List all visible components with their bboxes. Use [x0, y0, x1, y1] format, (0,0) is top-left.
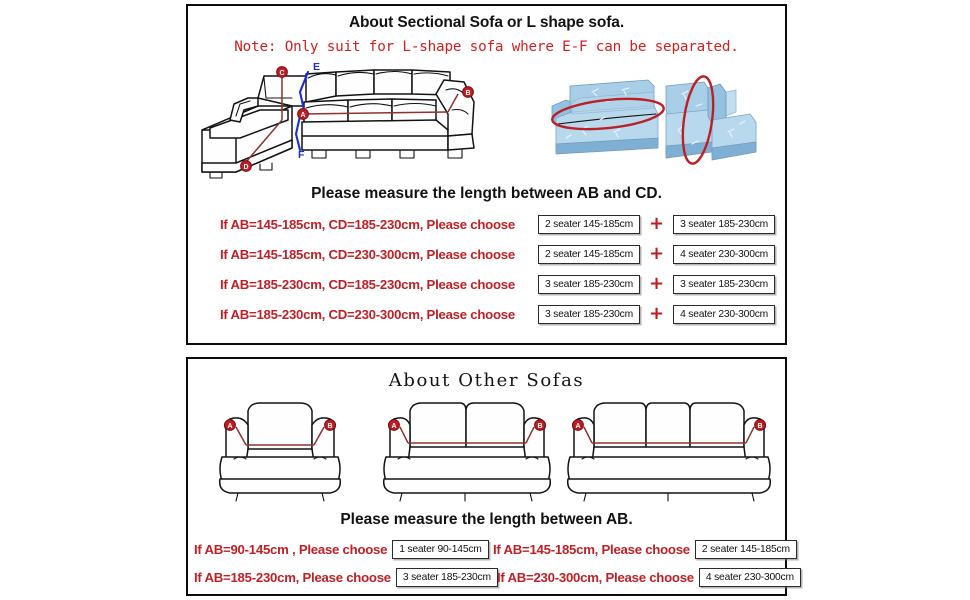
choice-row: If AB=145-185cm, CD=185-230cm, Please ch… — [188, 211, 785, 237]
option-button-b[interactable]: 3 seater 185-230cm — [673, 215, 775, 234]
other-sofas-panel: About Other Sofas A — [186, 357, 787, 596]
svg-text:B: B — [327, 423, 332, 430]
choice-row: If AB=185-230cm, CD=185-230cm, Please ch… — [188, 271, 785, 297]
choice-condition: If AB=230-300cm, Please choose — [497, 570, 694, 585]
l-shape-sofa-diagram: C D A B E F — [196, 58, 526, 183]
marker-b: B — [463, 87, 474, 98]
marker-d: D — [241, 161, 252, 172]
choice-condition: If AB=185-230cm, CD=185-230cm, Please ch… — [220, 277, 538, 292]
choice-condition: If AB=185-230cm, CD=230-300cm, Please ch… — [220, 307, 538, 322]
svg-text:D: D — [243, 164, 248, 171]
three-seater-diagram: A B — [556, 397, 778, 505]
option-button-b[interactable]: 3 seater 185-230cm — [673, 275, 775, 294]
svg-text:A: A — [575, 423, 580, 430]
choice-condition: If AB=185-230cm, Please choose — [194, 570, 391, 585]
sectional-panel-title: About Sectional Sofa or L shape sofa. — [188, 14, 785, 32]
option-button-a[interactable]: 3 seater 185-230cm — [538, 275, 640, 294]
infographic-root: About Sectional Sofa or L shape sofa. No… — [0, 0, 970, 600]
svg-text:A: A — [227, 423, 232, 430]
option-button[interactable]: 4 seater 230-300cm — [699, 568, 801, 587]
marker-b: B — [325, 420, 336, 431]
option-button-a[interactable]: 3 seater 185-230cm — [538, 305, 640, 324]
option-button[interactable]: 3 seater 185-230cm — [396, 568, 498, 587]
choice-cell: If AB=185-230cm, Please choose 3 seater … — [188, 568, 493, 587]
option-button-a[interactable]: 2 seater 145-185cm — [538, 245, 640, 264]
choice-row: If AB=185-230cm, CD=230-300cm, Please ch… — [188, 301, 785, 327]
option-button-b[interactable]: 4 seater 230-300cm — [673, 305, 775, 324]
svg-text:C: C — [279, 70, 284, 77]
choice-row: If AB=145-185cm, CD=230-300cm, Please ch… — [188, 241, 785, 267]
label-e: E — [313, 61, 320, 73]
sectional-note-text: Note: Only suit for L-shape sofa where E… — [188, 39, 785, 55]
svg-text:A: A — [391, 423, 396, 430]
marker-a: A — [225, 420, 236, 431]
option-button[interactable]: 2 seater 145-185cm — [695, 540, 797, 559]
svg-text:B: B — [757, 423, 762, 430]
svg-text:B: B — [537, 423, 542, 430]
sectional-sofa-panel: About Sectional Sofa or L shape sofa. No… — [186, 4, 787, 345]
choice-cell: If AB=145-185cm, Please choose 2 seater … — [489, 540, 785, 559]
plus-operator-icon: + — [649, 215, 664, 233]
option-button-b[interactable]: 4 seater 230-300cm — [673, 245, 775, 264]
marker-b: B — [535, 420, 546, 431]
svg-text:A: A — [300, 112, 305, 119]
label-f: F — [298, 149, 305, 161]
one-seater-diagram: A B — [204, 397, 379, 505]
choice-condition: If AB=145-185cm, CD=185-230cm, Please ch… — [220, 217, 538, 232]
plus-operator-icon: + — [649, 245, 664, 263]
plus-operator-icon: + — [649, 275, 664, 293]
choice-cell: If AB=230-300cm, Please choose 4 seater … — [493, 568, 789, 587]
marker-c: C — [277, 67, 288, 78]
choice-row: If AB=185-230cm, Please choose 3 seater … — [188, 563, 785, 591]
sectional-measure-instruction: Please measure the length between AB and… — [188, 185, 785, 203]
other-measure-instruction: Please measure the length between AB. — [188, 511, 785, 529]
choice-condition: If AB=145-185cm, CD=230-300cm, Please ch… — [220, 247, 538, 262]
marker-a: A — [389, 420, 400, 431]
choice-cell: If AB=90-145cm , Please choose 1 seater … — [188, 540, 489, 559]
choice-condition: If AB=145-185cm, Please choose — [493, 542, 690, 557]
svg-text:B: B — [465, 90, 470, 97]
sectional-choice-rows: If AB=145-185cm, CD=185-230cm, Please ch… — [188, 211, 785, 331]
marker-a: A — [298, 109, 309, 120]
marker-a: A — [573, 420, 584, 431]
option-button-a[interactable]: 2 seater 145-185cm — [538, 215, 640, 234]
two-seater-diagram: A B — [370, 397, 560, 505]
plus-operator-icon: + — [649, 305, 664, 323]
other-panel-title: About Other Sofas — [188, 370, 785, 391]
option-button[interactable]: 1 seater 90-145cm — [392, 540, 488, 559]
choice-row: If AB=90-145cm , Please choose 1 seater … — [188, 535, 785, 563]
other-choice-rows: If AB=90-145cm , Please choose 1 seater … — [188, 535, 785, 591]
choice-condition: If AB=90-145cm , Please choose — [194, 542, 387, 557]
separated-sofa-photo — [536, 58, 781, 180]
marker-b: B — [755, 420, 766, 431]
